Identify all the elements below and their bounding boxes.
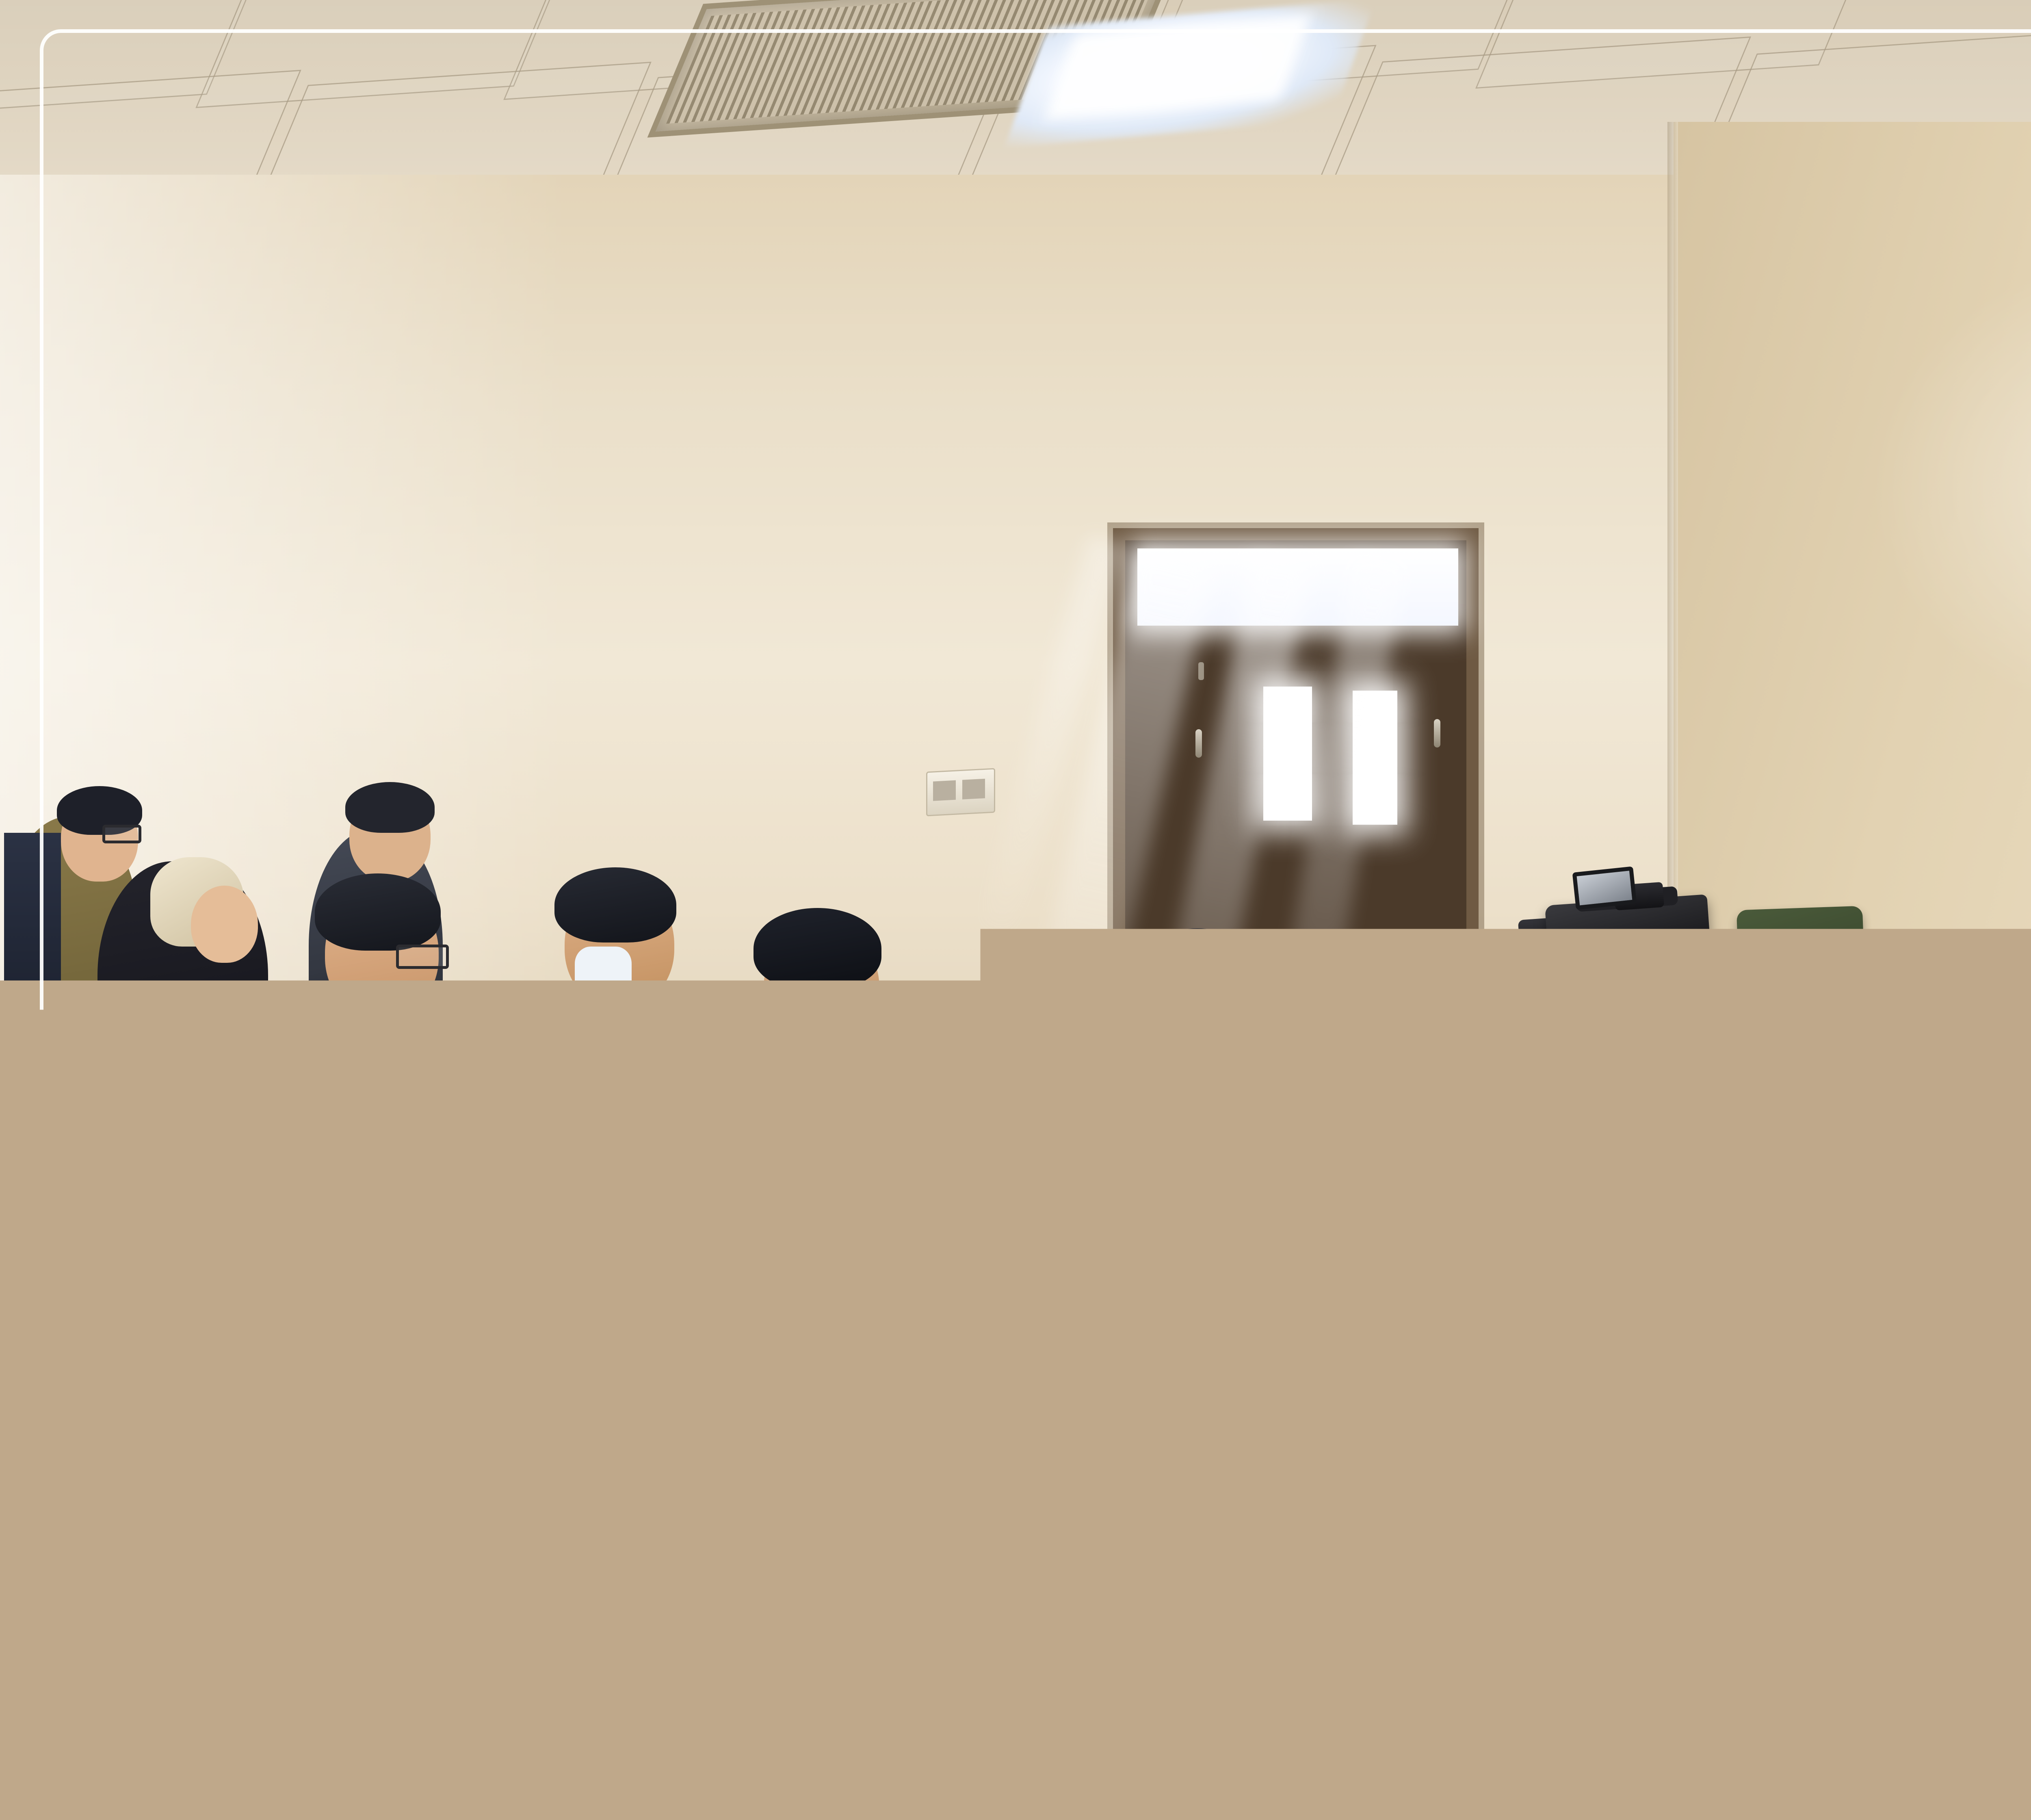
chair-leg bbox=[1852, 1034, 1861, 1121]
attendee-hair bbox=[1895, 1032, 2031, 1146]
paper-sheet bbox=[1319, 1089, 1415, 1137]
glasses-icon bbox=[396, 945, 449, 969]
attendee-arm bbox=[4, 833, 61, 1044]
attendee-hair bbox=[345, 782, 435, 833]
door-hinge bbox=[1198, 662, 1204, 680]
glasses-icon bbox=[102, 825, 141, 843]
attendee-hair bbox=[1154, 928, 1241, 981]
camera-lcd-screen[interactable] bbox=[1572, 866, 1637, 910]
face-mask bbox=[575, 947, 632, 1007]
right-wall-glow bbox=[1869, 244, 2031, 731]
door-handle-right[interactable] bbox=[1434, 719, 1440, 747]
face-mask bbox=[782, 993, 849, 1064]
wall-corner-seam bbox=[1667, 122, 1678, 1137]
attendee-hair bbox=[754, 908, 881, 989]
attendee-hair bbox=[554, 867, 676, 942]
attendee-hair bbox=[315, 873, 441, 951]
photo-canvas: تطوير المهارات المهنية والتعليم المستمر … bbox=[0, 0, 2031, 1820]
attendee-head bbox=[191, 886, 258, 963]
tripod-collar bbox=[1580, 1026, 1654, 1048]
door-handle-left[interactable] bbox=[1195, 729, 1202, 758]
mobile-phone[interactable] bbox=[1429, 1096, 1488, 1125]
chair-leg bbox=[1726, 1040, 1735, 1125]
light-switch-plate[interactable] bbox=[926, 768, 995, 817]
seat-backrest[interactable] bbox=[614, 1038, 723, 1134]
